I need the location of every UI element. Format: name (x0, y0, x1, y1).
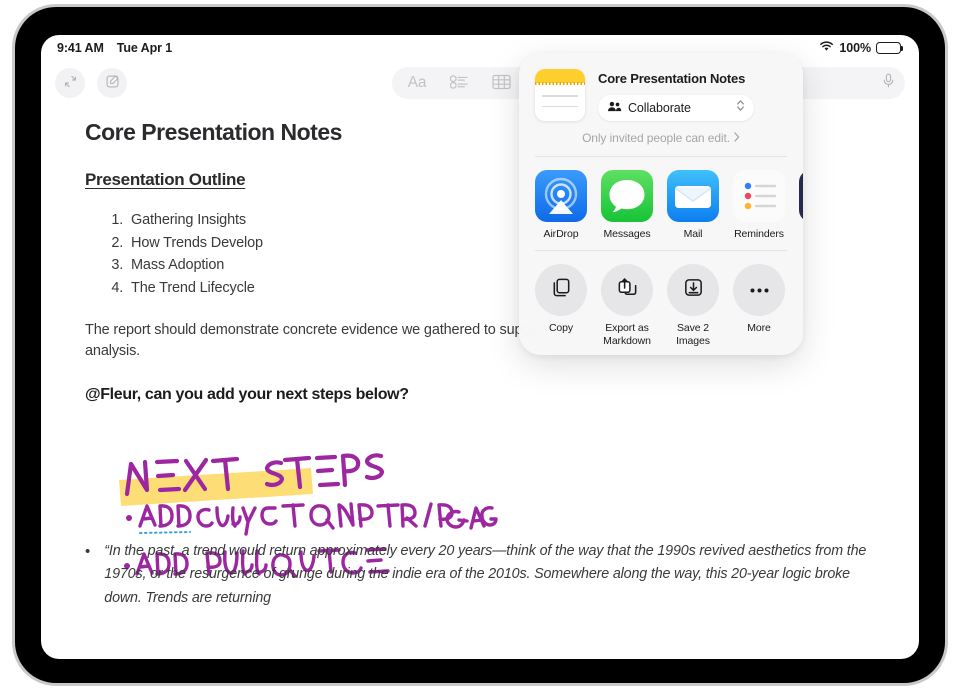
collapse-arrows-icon (63, 74, 78, 92)
airdrop-icon (535, 170, 587, 222)
blockquote-bullet: • (85, 540, 90, 610)
device-bezel: 9:41 AM Tue Apr 1 100% (15, 7, 945, 683)
mail-icon (667, 170, 719, 222)
action-label: Export as Markdown (601, 322, 653, 348)
messages-icon (601, 170, 653, 222)
share-app-mail[interactable]: Mail (667, 170, 719, 240)
note-thumbnail-icon (535, 69, 585, 121)
partial-app-icon (799, 170, 803, 222)
share-app-label: Mail (667, 228, 719, 240)
share-app-label: AirDrop (535, 228, 587, 240)
battery-percent: 100% (839, 41, 871, 55)
share-app-airdrop[interactable]: AirDrop (535, 170, 587, 240)
share-sheet[interactable]: Core Presentation Notes Collaborate (519, 53, 803, 355)
blockquote-text: “In the past, a trend would return appro… (104, 540, 875, 610)
action-label: More (733, 322, 785, 335)
share-app-label: Reminders (733, 228, 785, 240)
chevron-right-icon (734, 131, 740, 145)
table-button[interactable] (480, 68, 522, 98)
device-frame: 9:41 AM Tue Apr 1 100% (12, 4, 948, 686)
link-underline (140, 532, 190, 533)
reminders-icon (733, 170, 785, 222)
permission-row[interactable]: Only invited people can edit. (519, 131, 803, 145)
copy-icon (550, 276, 573, 304)
status-time: 9:41 AM (57, 41, 104, 55)
export-icon (616, 276, 639, 304)
compose-button[interactable] (97, 68, 127, 98)
checklist-button[interactable] (438, 68, 480, 98)
permission-text: Only invited people can edit. (582, 131, 730, 145)
microphone-icon[interactable] (882, 73, 895, 93)
share-app-messages[interactable]: Messages (601, 170, 653, 240)
collaborate-label: Collaborate (628, 101, 730, 115)
chevron-up-down-icon (736, 99, 745, 117)
people-icon (607, 99, 622, 117)
battery-icon (876, 42, 901, 54)
action-copy[interactable]: Copy (535, 264, 587, 348)
ellipsis-icon (748, 281, 771, 299)
action-more[interactable]: More (733, 264, 785, 348)
share-apps-row: AirDrop Messages (519, 157, 803, 240)
status-date: Tue Apr 1 (117, 41, 172, 55)
ink-item-1 (140, 504, 496, 534)
share-sheet-title: Core Presentation Notes (598, 71, 787, 86)
share-sheet-header: Core Presentation Notes Collaborate (519, 53, 803, 121)
action-export-markdown[interactable]: Export as Markdown (601, 264, 653, 348)
checklist-icon (450, 74, 469, 93)
wifi-icon (819, 41, 834, 55)
handwriting-bullet (126, 515, 132, 521)
action-label: Save 2 Images (667, 322, 719, 348)
share-actions-row: Copy Export as Markdown (519, 251, 803, 348)
share-app-label: Messages (601, 228, 653, 240)
text-format-button[interactable]: Aa (396, 68, 438, 98)
format-label: Aa (408, 74, 427, 92)
blockquote: • “In the past, a trend would return app… (85, 540, 875, 610)
collapse-button[interactable] (55, 68, 85, 98)
screen: 9:41 AM Tue Apr 1 100% (41, 35, 919, 659)
action-save-images[interactable]: Save 2 Images (667, 264, 719, 348)
download-icon (682, 276, 705, 304)
table-icon (492, 74, 511, 93)
mention-line: @Fleur, can you add your next steps belo… (85, 386, 875, 404)
collaborate-dropdown[interactable]: Collaborate (598, 95, 754, 121)
share-app-reminders[interactable]: Reminders (733, 170, 785, 240)
share-app-partial[interactable] (799, 170, 803, 240)
action-label: Copy (535, 322, 587, 335)
compose-icon (105, 74, 120, 92)
